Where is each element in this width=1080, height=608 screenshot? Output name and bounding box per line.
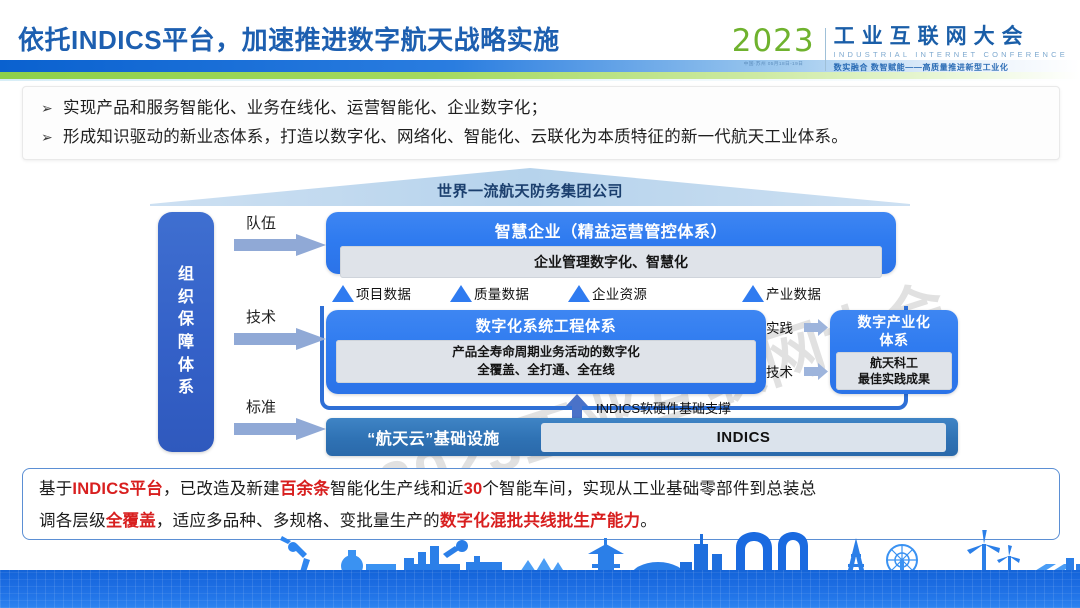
header-rule-thin (0, 79, 1080, 81)
bullet-item: ➢ 形成知识驱动的新业态体系，打造以数字化、网络化、智能化、云联化为本质特征的新… (41, 118, 1059, 147)
summary-highlight-indics: INDICS平台 (72, 480, 163, 498)
summary-t7: 。 (640, 512, 657, 530)
mid-arrow-label: 实践 (766, 317, 793, 337)
mid-arrow-practice: 实践 (766, 318, 828, 338)
connector-project-data: 项目数据 (332, 280, 411, 306)
bullet-panel: ➢ 实现产品和服务智能化、业务在线化、运营智能化、企业数字化； ➢ 形成知识驱动… (22, 86, 1060, 160)
logo-year-subtitle: 中国·苏州 05月18日-19日 (743, 60, 803, 67)
connector-quality-data: 质量数据 (450, 280, 529, 306)
org-guarantee-box: 组织保障体系 (158, 212, 214, 452)
smart-enterprise-panel: 智慧企业（精益运营管控体系） 企业管理数字化、智慧化 (326, 212, 896, 274)
flow-arrow-label: 标准 (246, 396, 276, 417)
bullet-text: 形成知识驱动的新业态体系，打造以数字化、网络化、智能化、云联化为本质特征的新一代… (63, 127, 848, 147)
aerospace-cloud-panel: “航天云”基础设施 INDICS (326, 418, 958, 456)
digital-system-inner: 产品全寿命周期业务活动的数字化 全覆盖、全打通、全在线 (336, 340, 756, 383)
digital-industrialization-title-line2: 体系 (830, 332, 958, 350)
mid-arrow-technology: 技术 (766, 362, 828, 382)
up-triangle-icon (742, 285, 764, 302)
digital-industrialization-inner-line1: 航天科工 (836, 355, 952, 371)
flow-arrow-standard: 标准 (234, 398, 326, 444)
bullet-item: ➢ 实现产品和服务智能化、业务在线化、运营智能化、企业数字化； (41, 87, 1059, 118)
digital-industrialization-inner-line2: 最佳实践成果 (836, 371, 952, 387)
right-arrow-icon (234, 418, 326, 440)
digital-system-inner-line1: 产品全寿命周期业务活动的数字化 (336, 344, 756, 362)
digital-industrialization-title: 数字产业化 体系 (830, 310, 958, 349)
summary-t2: ，已改造及新建 (163, 480, 280, 498)
digital-industrialization-title-line1: 数字产业化 (830, 314, 958, 332)
arrow-bullet-icon: ➢ (41, 98, 63, 118)
summary-highlight-30: 30 (464, 480, 483, 498)
flow-arrow-technology: 技术 (234, 308, 326, 354)
logo-year: 2023 (732, 26, 815, 57)
smart-enterprise-title: 智慧企业（精益运营管控体系） (326, 212, 896, 242)
header-rule-green (0, 72, 1080, 79)
right-arrow-icon (234, 328, 326, 350)
summary-t6: ，适应多品种、多规格、变批量生产的 (156, 512, 440, 530)
digital-system-engineering-panel: 数字化系统工程体系 产品全寿命周期业务活动的数字化 全覆盖、全打通、全在线 (326, 310, 766, 394)
logo-slogan: 数实融合 数智赋能——高质量推进新型工业化 (834, 62, 1068, 73)
logo-text-block: 工业互联网大会 INDUSTRIAL INTERNET CONFERENCE 数… (834, 26, 1068, 73)
connector-label: 产业数据 (766, 283, 821, 303)
up-triangle-icon (332, 285, 354, 302)
summary-highlight-coverage: 全覆盖 (106, 512, 156, 530)
up-triangle-icon (568, 285, 590, 302)
up-triangle-icon (450, 285, 472, 302)
connector-label: 质量数据 (474, 283, 529, 303)
summary-highlight-capability: 数字化混批共线批生产能力 (440, 512, 640, 530)
flow-arrow-label: 队伍 (246, 212, 276, 233)
flow-arrow-team: 队伍 (234, 214, 326, 260)
conference-logo: 2023 中国·苏州 05月18日-19日 工业互联网大会 INDUSTRIAL… (732, 26, 1068, 73)
connector-label: 企业资源 (592, 283, 647, 303)
summary-highlight-lines: 百余条 (280, 480, 330, 498)
right-arrow-icon (234, 234, 326, 256)
logo-divider (825, 28, 826, 71)
connector-label: 项目数据 (356, 283, 411, 303)
slide-header: 依托INDICS平台，加速推进数字航天战略实施 2023 中国·苏州 05月18… (0, 0, 1080, 82)
sea-grid-graphic (0, 570, 1080, 608)
connector-enterprise-resource: 企业资源 (568, 280, 647, 306)
indics-platform-chip: INDICS (541, 423, 946, 452)
mid-arrow-label: 技术 (766, 361, 793, 381)
right-arrow-icon (804, 363, 828, 380)
bullet-text: 实现产品和服务智能化、业务在线化、运营智能化、企业数字化； (63, 98, 547, 118)
footer-graphic (0, 540, 1080, 608)
logo-name-en: INDUSTRIAL INTERNET CONFERENCE (834, 50, 1068, 59)
summary-t3: 智能化生产线和近 (330, 480, 464, 498)
right-arrow-icon (804, 319, 828, 336)
summary-t1: 基于 (39, 480, 72, 498)
summary-line-1: 基于INDICS平台，已改造及新建百余条智能化生产线和近30个智能车间，实现从工… (23, 469, 1059, 505)
support-label: INDICS软硬件基础支撑 (596, 398, 731, 417)
roof-label: 世界一流航天防务集团公司 (150, 180, 910, 201)
logo-year-block: 2023 中国·苏州 05月18日-19日 (732, 26, 825, 67)
up-arrow-icon (566, 394, 588, 420)
arrow-bullet-icon: ➢ (41, 127, 63, 147)
logo-name-cn: 工业互联网大会 (834, 26, 1068, 48)
connector-industry-data: 产业数据 (742, 280, 821, 306)
org-guarantee-label: 组织保障体系 (177, 264, 195, 400)
summary-t4: 个智能车间，实现从工业基础零部件到总装总 (482, 480, 816, 498)
aerospace-cloud-label: “航天云”基础设施 (326, 425, 541, 449)
architecture-diagram: 世界一流航天防务集团公司 2023工业互联网大会 组织保障体系 队伍 技术 标准 (150, 166, 910, 456)
summary-t5: 调各层级 (39, 512, 106, 530)
page-title: 依托INDICS平台，加速推进数字航天战略实施 (18, 20, 560, 57)
digital-industrialization-panel: 数字产业化 体系 航天科工 最佳实践成果 (830, 310, 958, 394)
smart-enterprise-inner: 企业管理数字化、智慧化 (340, 246, 882, 278)
digital-system-title: 数字化系统工程体系 (326, 310, 766, 336)
slide-root: 依托INDICS平台，加速推进数字航天战略实施 2023 中国·苏州 05月18… (0, 0, 1080, 608)
flow-arrow-label: 技术 (246, 306, 276, 327)
digital-system-inner-line2: 全覆盖、全打通、全在线 (336, 362, 756, 380)
digital-industrialization-inner: 航天科工 最佳实践成果 (836, 352, 952, 390)
